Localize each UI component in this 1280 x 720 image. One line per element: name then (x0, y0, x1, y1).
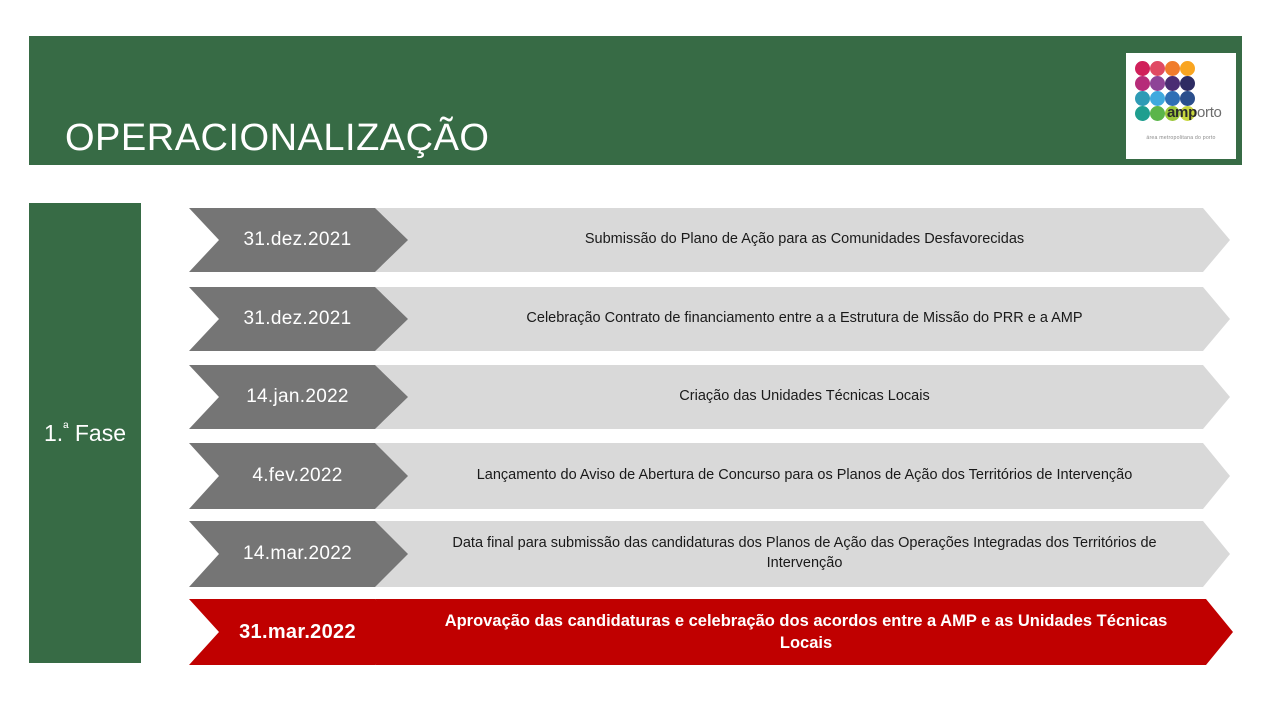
timeline-description-bar: Lançamento do Aviso de Abertura de Concu… (375, 443, 1230, 509)
timeline-date-text: 31.mar.2022 (239, 621, 356, 644)
timeline-date-chevron: 4.fev.2022 (189, 443, 408, 509)
timeline-row[interactable]: Aprovação das candidaturas e celebração … (0, 599, 1280, 665)
timeline-description-text: Criação das Unidades Técnicas Locais (679, 387, 929, 407)
timeline-date-text: 4.fev.2022 (252, 465, 342, 487)
timeline: Submissão do Plano de Ação para as Comun… (0, 0, 1280, 720)
timeline-date-chevron: 31.dez.2021 (189, 287, 408, 351)
timeline-description-text: Lançamento do Aviso de Abertura de Concu… (477, 466, 1133, 486)
timeline-description-text: Data final para submissão das candidatur… (439, 534, 1170, 573)
timeline-description-bar: Aprovação das candidaturas e celebração … (375, 599, 1233, 665)
timeline-description-bar: Submissão do Plano de Ação para as Comun… (375, 208, 1230, 272)
timeline-row[interactable]: Celebração Contrato de financiamento ent… (0, 287, 1280, 351)
timeline-date-text: 14.mar.2022 (243, 543, 352, 565)
timeline-date-text: 31.dez.2021 (244, 229, 352, 251)
timeline-date-chevron: 31.dez.2021 (189, 208, 408, 272)
timeline-description-text: Aprovação das candidaturas e celebração … (439, 610, 1173, 655)
timeline-description-bar: Criação das Unidades Técnicas Locais (375, 365, 1230, 429)
timeline-description-text: Submissão do Plano de Ação para as Comun… (585, 230, 1024, 250)
timeline-description-bar: Data final para submissão das candidatur… (375, 521, 1230, 587)
timeline-row[interactable]: Submissão do Plano de Ação para as Comun… (0, 208, 1280, 272)
timeline-row[interactable]: Lançamento do Aviso de Abertura de Concu… (0, 443, 1280, 509)
timeline-description-bar: Celebração Contrato de financiamento ent… (375, 287, 1230, 351)
timeline-description-text: Celebração Contrato de financiamento ent… (526, 309, 1082, 329)
timeline-date-chevron: 31.mar.2022 (189, 599, 408, 665)
timeline-row[interactable]: Data final para submissão das candidatur… (0, 521, 1280, 587)
timeline-date-text: 14.jan.2022 (246, 386, 349, 408)
timeline-date-chevron: 14.mar.2022 (189, 521, 408, 587)
timeline-date-chevron: 14.jan.2022 (189, 365, 408, 429)
timeline-date-text: 31.dez.2021 (244, 308, 352, 330)
timeline-row[interactable]: Criação das Unidades Técnicas Locais14.j… (0, 365, 1280, 429)
